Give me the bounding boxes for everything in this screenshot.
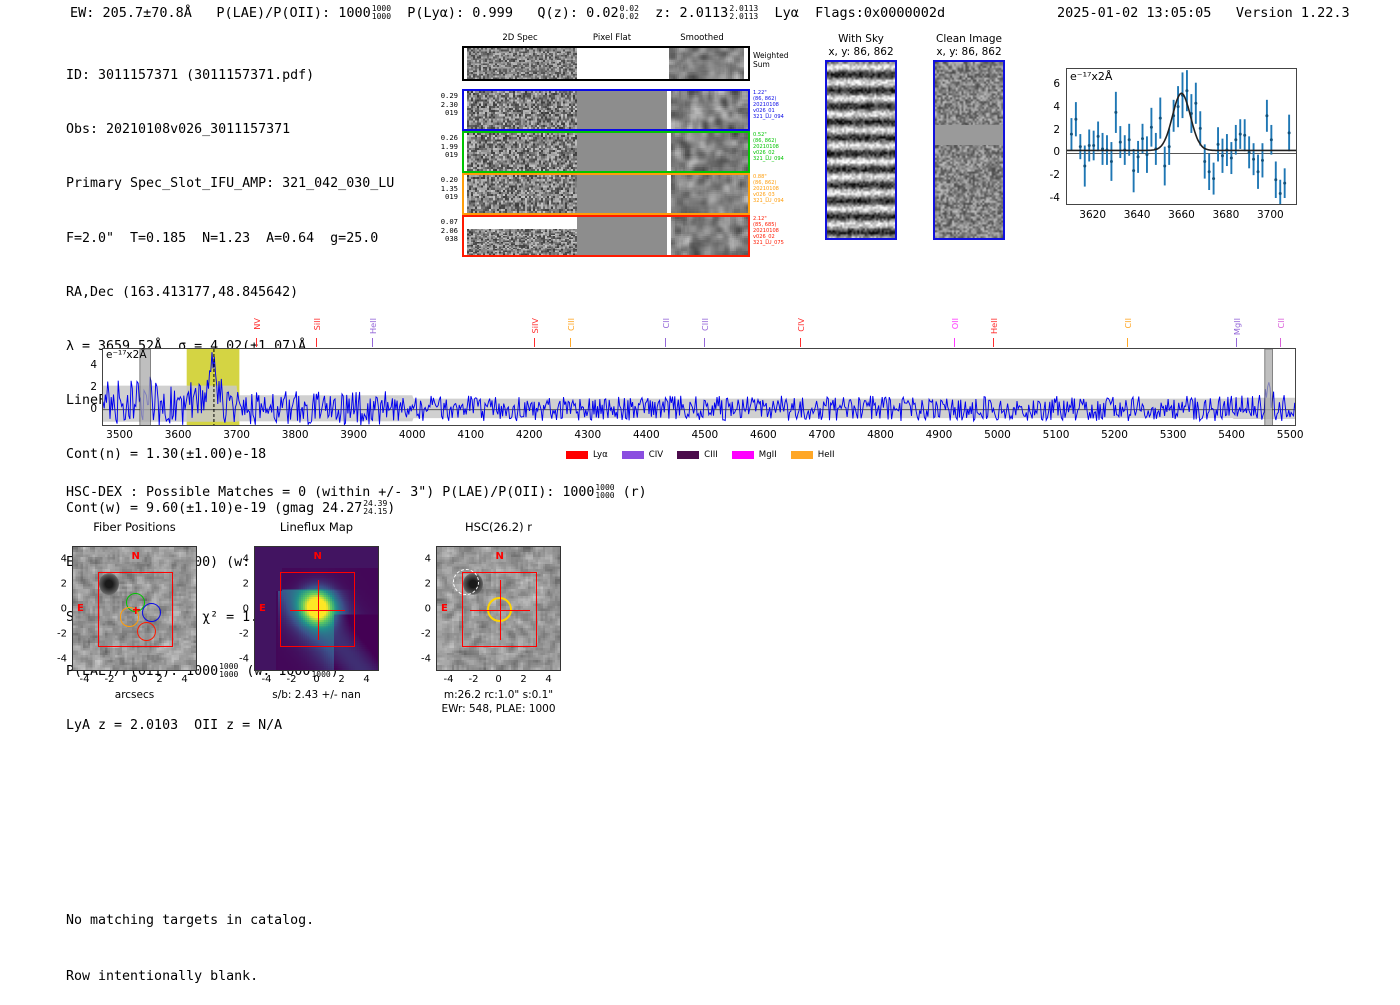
fiber-weight-value: 038 [432,235,458,244]
emission-line-label-cii-12: CII [1276,318,1286,329]
legend-item-lyα: Lyα [566,450,608,460]
fiber-weight-value: 019 [432,109,458,118]
fiber-row-2 [462,131,750,173]
spectrum-xtick: 3700 [223,429,250,441]
emission-line-tick [1127,338,1128,347]
spectrum-ytick: 2 [90,381,97,393]
sky-panel-image-1 [933,60,1005,240]
header-plya: P(Lyα): 0.999 [407,5,513,21]
pixel-flat-segment [577,91,667,129]
spec-image-segment [467,133,577,171]
sky-panel-title-text: Clean Image [928,33,1010,46]
cutout-image-1: NE [254,546,379,671]
fiber-circle-2 [142,603,161,622]
info-primary-spec: Primary Spec_Slot_IFU_AMP: 321_042_030_L… [66,175,395,193]
spectrum-xtick: 5100 [1043,429,1070,441]
spectrum-xtick: 3800 [282,429,309,441]
header-ew: EW: 205.7±70.8Å [70,5,192,21]
full-spectrum-canvas [103,349,1296,426]
cutout-title-0: Fiber Positions [52,520,217,534]
hscdex-pre: HSC-DEX : Possible Matches = 0 (within +… [66,485,594,500]
hscdex-match-line: HSC-DEX : Possible Matches = 0 (within +… [66,484,647,500]
legend-swatch [677,451,699,459]
cutout-title-1: Lineflux Map [234,520,399,534]
compass-north-2: N [496,551,504,562]
cutout-panels: Fiber PositionsNE-4-4-2-2002244arcsecsLi… [60,520,620,735]
masked-wavelength-band [1265,349,1273,426]
fiber-weight-value: 019 [432,193,458,202]
emission-line-tick [1236,338,1237,347]
fit-plot-flux-units: e⁻¹⁷x2Å [1070,70,1112,83]
emission-line-tick [665,338,666,347]
fit-plot-xtick: 3620 [1079,209,1106,221]
info-seeing: F=2.0" T=0.185 N=1.23 A=0.64 g=25.0 [66,230,395,248]
spectrum-xtick: 4800 [867,429,894,441]
cutout-caption-line1: m:26.2 rc:1.0" s:0.1" [406,689,591,703]
info-radec: RA,Dec (163.413177,48.845642) [66,284,395,302]
emission-line-label-cii-10: CII [1123,318,1133,329]
footer-line-2: Row intentionally blank. [66,968,314,987]
fiber-meta-line: 321_LU_075 [753,240,784,246]
info-gmag-bot: 24.15 [363,507,387,516]
fiber-row-4 [462,215,750,257]
spectrum-ytick: 0 [90,403,97,415]
emission-line-label-mgii-11: MgII [1232,318,1242,335]
info-cont-w-pre: Cont(w) = 9.60(±1.10)e-19 (gmag 24.27 [66,501,362,516]
cutout-title-2: HSC(26.2) r [416,520,581,534]
legend-label: MgII [759,450,777,460]
weighted-sum-line2: Sum [753,61,789,70]
fiber-weights-2: 0.261.99019 [432,134,458,160]
fiber-weight-value: 019 [432,151,458,160]
emission-line-tick [954,338,955,347]
footer-note: No matching targets in catalog. Row inte… [66,875,314,1005]
spectrum-xtick: 5400 [1218,429,1245,441]
legend-label: CIII [704,450,718,460]
cutout-xtick: 4 [181,674,187,685]
sky-panel-image-0 [825,60,897,240]
spectrum-ytick: 4 [90,359,97,371]
info-id: ID: 3011157371 (3011157371.pdf) [66,67,395,85]
pixel-flat-blank [577,48,669,79]
weighted-sum-label: Weighted Sum [753,52,789,69]
sky-panel-subtitle: x, y: 86, 862 [928,46,1010,59]
timestamp-text: 2025-01-02 13:05:05 [1057,5,1211,21]
header-z-label: z: 2.0113 [655,5,728,21]
cutout-ytick: -4 [421,653,431,664]
fit-plot-xtick: 3680 [1213,209,1240,221]
emission-line-label-siii-1: SiII [312,318,322,330]
emission-line-label-nv-0: NV [252,318,262,330]
legend-label: HeII [818,450,835,460]
emission-line-label-siiv-3: SiIV [530,318,540,334]
fit-plot-axes [1066,68,1297,205]
fiber-meta-line: 321_LU_094 [753,198,784,204]
version-text: Version 1.22.3 [1236,5,1350,21]
legend-label: Lyα [593,450,608,460]
cutout-ytick: 0 [61,603,67,614]
fit-plot-ytick: 4 [1053,101,1060,113]
emission-line-tick [570,338,571,347]
clean-noise-texture [935,62,1003,238]
cutout-xtick: -2 [287,674,297,685]
spec-image-segment [467,91,577,129]
cutout-xtick: 2 [156,674,162,685]
compass-east-2: E [441,603,448,614]
sky-panel-title-text: With Sky [820,33,902,46]
fiber-circle-4 [137,622,156,641]
spectrum-xtick: 4900 [926,429,953,441]
cutout-caption-line2: EWr: 548, PLAE: 1000 [406,703,591,717]
header-timestamp-block: 2025-01-02 13:05:05 Version 1.22.3 [1057,5,1350,21]
emission-line-label-ciii-4: CIII [566,318,576,331]
legend-item-heii: HeII [791,450,835,460]
header-plae-label: P(LAE)/P(OII): 1000 [216,5,370,21]
fit-plot-ytick: 2 [1053,124,1060,136]
fiber-meta-2: 0.52"(86, 862)20210108v026_02321_LU_094 [753,132,784,162]
sky-panel-subtitle: x, y: 86, 862 [820,46,902,59]
cutout-xtick: 0 [131,674,137,685]
cutout-caption-0: arcsecs [42,689,227,703]
cutout-caption-line1: arcsecs [42,689,227,703]
emission-line-tick [256,338,257,347]
compass-north-0: N [132,551,140,562]
fit-plot-ytick: -2 [1050,169,1060,181]
cutout-xtick: -2 [105,674,115,685]
cutout-ytick: -4 [57,653,67,664]
cutout-caption-1: s/b: 2.43 +/- nan [224,689,409,703]
cutout-ytick: 0 [425,603,431,614]
spectrum-xtick: 4000 [399,429,426,441]
cutout-ytick: 2 [425,578,431,589]
spectrum-xtick: 3600 [165,429,192,441]
emission-line-tick [316,338,317,347]
pixel-flat-segment [577,175,667,213]
fit-plot-xtick: 3640 [1124,209,1151,221]
cutout-ytick: 4 [61,553,67,564]
fit-plot-xtick: 3660 [1168,209,1195,221]
legend-label: CIV [649,450,663,460]
sky-panel-title-0: With Skyx, y: 86, 862 [820,33,902,58]
hscdex-post: (r) [623,485,647,500]
info-cont-n: Cont(n) = 1.30(±1.00)e-18 [66,446,395,464]
fit-plot-ytick: -4 [1050,192,1060,204]
full-spectrum-axes [102,348,1296,426]
cutout-caption-2: m:26.2 rc:1.0" s:0.1"EWr: 548, PLAE: 100… [406,689,591,716]
spectrum-xtick: 3500 [106,429,133,441]
full-spectrum-plot: e⁻¹⁷x2Å350036003700380039004000410042004… [78,318,1300,448]
header-line-name: Lyα [774,5,798,21]
legend-item-mgii: MgII [732,450,777,460]
cutout-xtick: 0 [495,674,501,685]
spectrum-xtick: 5200 [1101,429,1128,441]
emission-line-label-ciii-6: CIII [700,318,710,331]
line-fit-plot: e⁻¹⁷x2Å36203640366036803700-4-20246 [1038,62,1303,229]
spec2d-montage: 2D Spec Pixel Flat Smoothed Weighted Sum… [440,33,770,258]
cutout-xtick: -4 [262,674,272,685]
cutout-xtick: 4 [545,674,551,685]
column-title-smoothed: Smoothed [680,33,723,43]
spectrum-xtick: 4400 [633,429,660,441]
spectrum-legend: LyαCIVCIIIMgIIHeII [566,450,849,460]
sky-panel-title-1: Clean Imagex, y: 86, 862 [928,33,1010,58]
legend-item-civ: CIV [622,450,663,460]
spec-image-segment [671,217,748,255]
spec-image-segment [671,91,748,129]
spec-image-segment [467,48,577,79]
neighbor-circle [453,569,479,595]
emission-line-label-heii-9: HeII [989,318,999,334]
legend-swatch [791,451,813,459]
column-title-2dspec: 2D Spec [502,33,537,43]
crosshair-vertical [318,580,320,640]
emission-line-label-heii-2: HeII [368,318,378,334]
fiber-weights-4: 0.072.06038 [432,218,458,244]
emission-line-label-cii-5: CII [661,318,671,329]
legend-swatch [566,451,588,459]
spec-image-segment [467,229,577,255]
fiber-row-1 [462,89,750,131]
fiber-meta-line: 321_LU_094 [753,156,784,162]
cutout-ytick: -2 [421,628,431,639]
emission-line-tick [534,338,535,347]
cutout-ytick: -4 [239,653,249,664]
fit-plot-canvas [1067,69,1297,205]
weighted-sum-strip [462,46,750,81]
compass-east-0: E [77,603,84,614]
fit-plot-xtick: 3700 [1257,209,1284,221]
spec-image-segment [467,175,577,213]
info-cont-w-post: ) [387,501,395,516]
legend-swatch [732,451,754,459]
info-obs: Obs: 20210108v026_3011157371 [66,121,395,139]
target-crosshair [255,547,378,670]
fiber-weights-1: 0.292.30019 [432,92,458,118]
footer-line-1: No matching targets in catalog. [66,912,314,931]
cutout-ytick: 4 [425,553,431,564]
cutout-xtick: 2 [338,674,344,685]
emission-line-tick [372,338,373,347]
fiber-meta-1: 1.22"(86, 862)20210108v026_01321_LU_094 [753,90,784,120]
spec-image-segment [669,48,744,79]
cutout-caption-line1: s/b: 2.43 +/- nan [224,689,409,703]
spectrum-xtick: 4300 [574,429,601,441]
spectrum-xtick: 5500 [1277,429,1304,441]
emission-line-tick [993,338,994,347]
emission-line-tick [704,338,705,347]
crosshair-vertical [500,580,502,640]
spectrum-xtick: 3900 [340,429,367,441]
hscdex-frac-bot: 1000 [595,491,614,500]
spectrum-xtick: 5300 [1160,429,1187,441]
masked-region [935,125,1003,144]
cutout-ytick: 0 [243,603,249,614]
sky-noise-texture [827,62,895,238]
cutout-xtick: -4 [444,674,454,685]
header-flags: Flags:0x0000002d [815,5,945,21]
header-qz-label: Q(z): 0.02 [537,5,618,21]
emission-line-label-civ-7: CIV [796,318,806,332]
spectrum-xtick: 4700 [809,429,836,441]
header-plae-frac-bot: 1000 [372,12,391,21]
fiber-meta-4: 2.12"(85, 685)20210108v026_02321_LU_075 [753,216,784,246]
spectrum-xtick: 4100 [457,429,484,441]
fiber-row-3 [462,173,750,215]
spectrum-xtick: 4200 [516,429,543,441]
info-cont-w: Cont(w) = 9.60(±1.10)e-19 (gmag 24.2724.… [66,500,395,518]
target-cross [133,607,140,614]
legend-swatch [622,451,644,459]
cutout-ytick: 2 [243,578,249,589]
cutout-ytick: -2 [57,628,67,639]
cutout-xtick: 2 [520,674,526,685]
spec-image-segment [671,175,748,213]
legend-item-ciii: CIII [677,450,718,460]
fit-plot-ytick: 6 [1053,78,1060,90]
emission-line-label-oii-8: OII [950,318,960,329]
spectrum-xtick: 4500 [691,429,718,441]
spectrum-xtick: 4600 [750,429,777,441]
emission-line-tick [1280,338,1281,347]
fiber-meta-line: 321_LU_094 [753,114,784,120]
emission-line-tick [800,338,801,347]
column-title-pixelflat: Pixel Flat [593,33,631,43]
spectrum-flux-units: e⁻¹⁷x2Å [106,349,147,361]
pixel-flat-segment [577,133,667,171]
cutout-xtick: 0 [313,674,319,685]
header-z-frac-bot: 2.0113 [729,12,758,21]
header-summary-line: EW: 205.7±70.8Å P(LAE)/P(OII): 100010001… [70,5,945,21]
cutout-ytick: 2 [61,578,67,589]
pixel-flat-segment [577,217,667,255]
spectrum-xtick: 5000 [984,429,1011,441]
fiber-weights-3: 0.201.35019 [432,176,458,202]
cutout-image-0: NE [72,546,197,671]
spec-image-segment [671,133,748,171]
cutout-xtick: -4 [80,674,90,685]
cutout-image-2: NE [436,546,561,671]
cutout-ytick: -2 [239,628,249,639]
sky-image-panels: With Skyx, y: 86, 862Clean Imagex, y: 86… [810,33,1030,258]
cutout-xtick: 4 [363,674,369,685]
header-qz-frac-bot: 0.02 [620,12,639,21]
cutout-xtick: -2 [469,674,479,685]
cutout-ytick: 4 [243,553,249,564]
fit-plot-ytick: 0 [1053,146,1060,158]
fiber-meta-3: 0.88"(86, 862)20210108v026_03321_LU_094 [753,174,784,204]
